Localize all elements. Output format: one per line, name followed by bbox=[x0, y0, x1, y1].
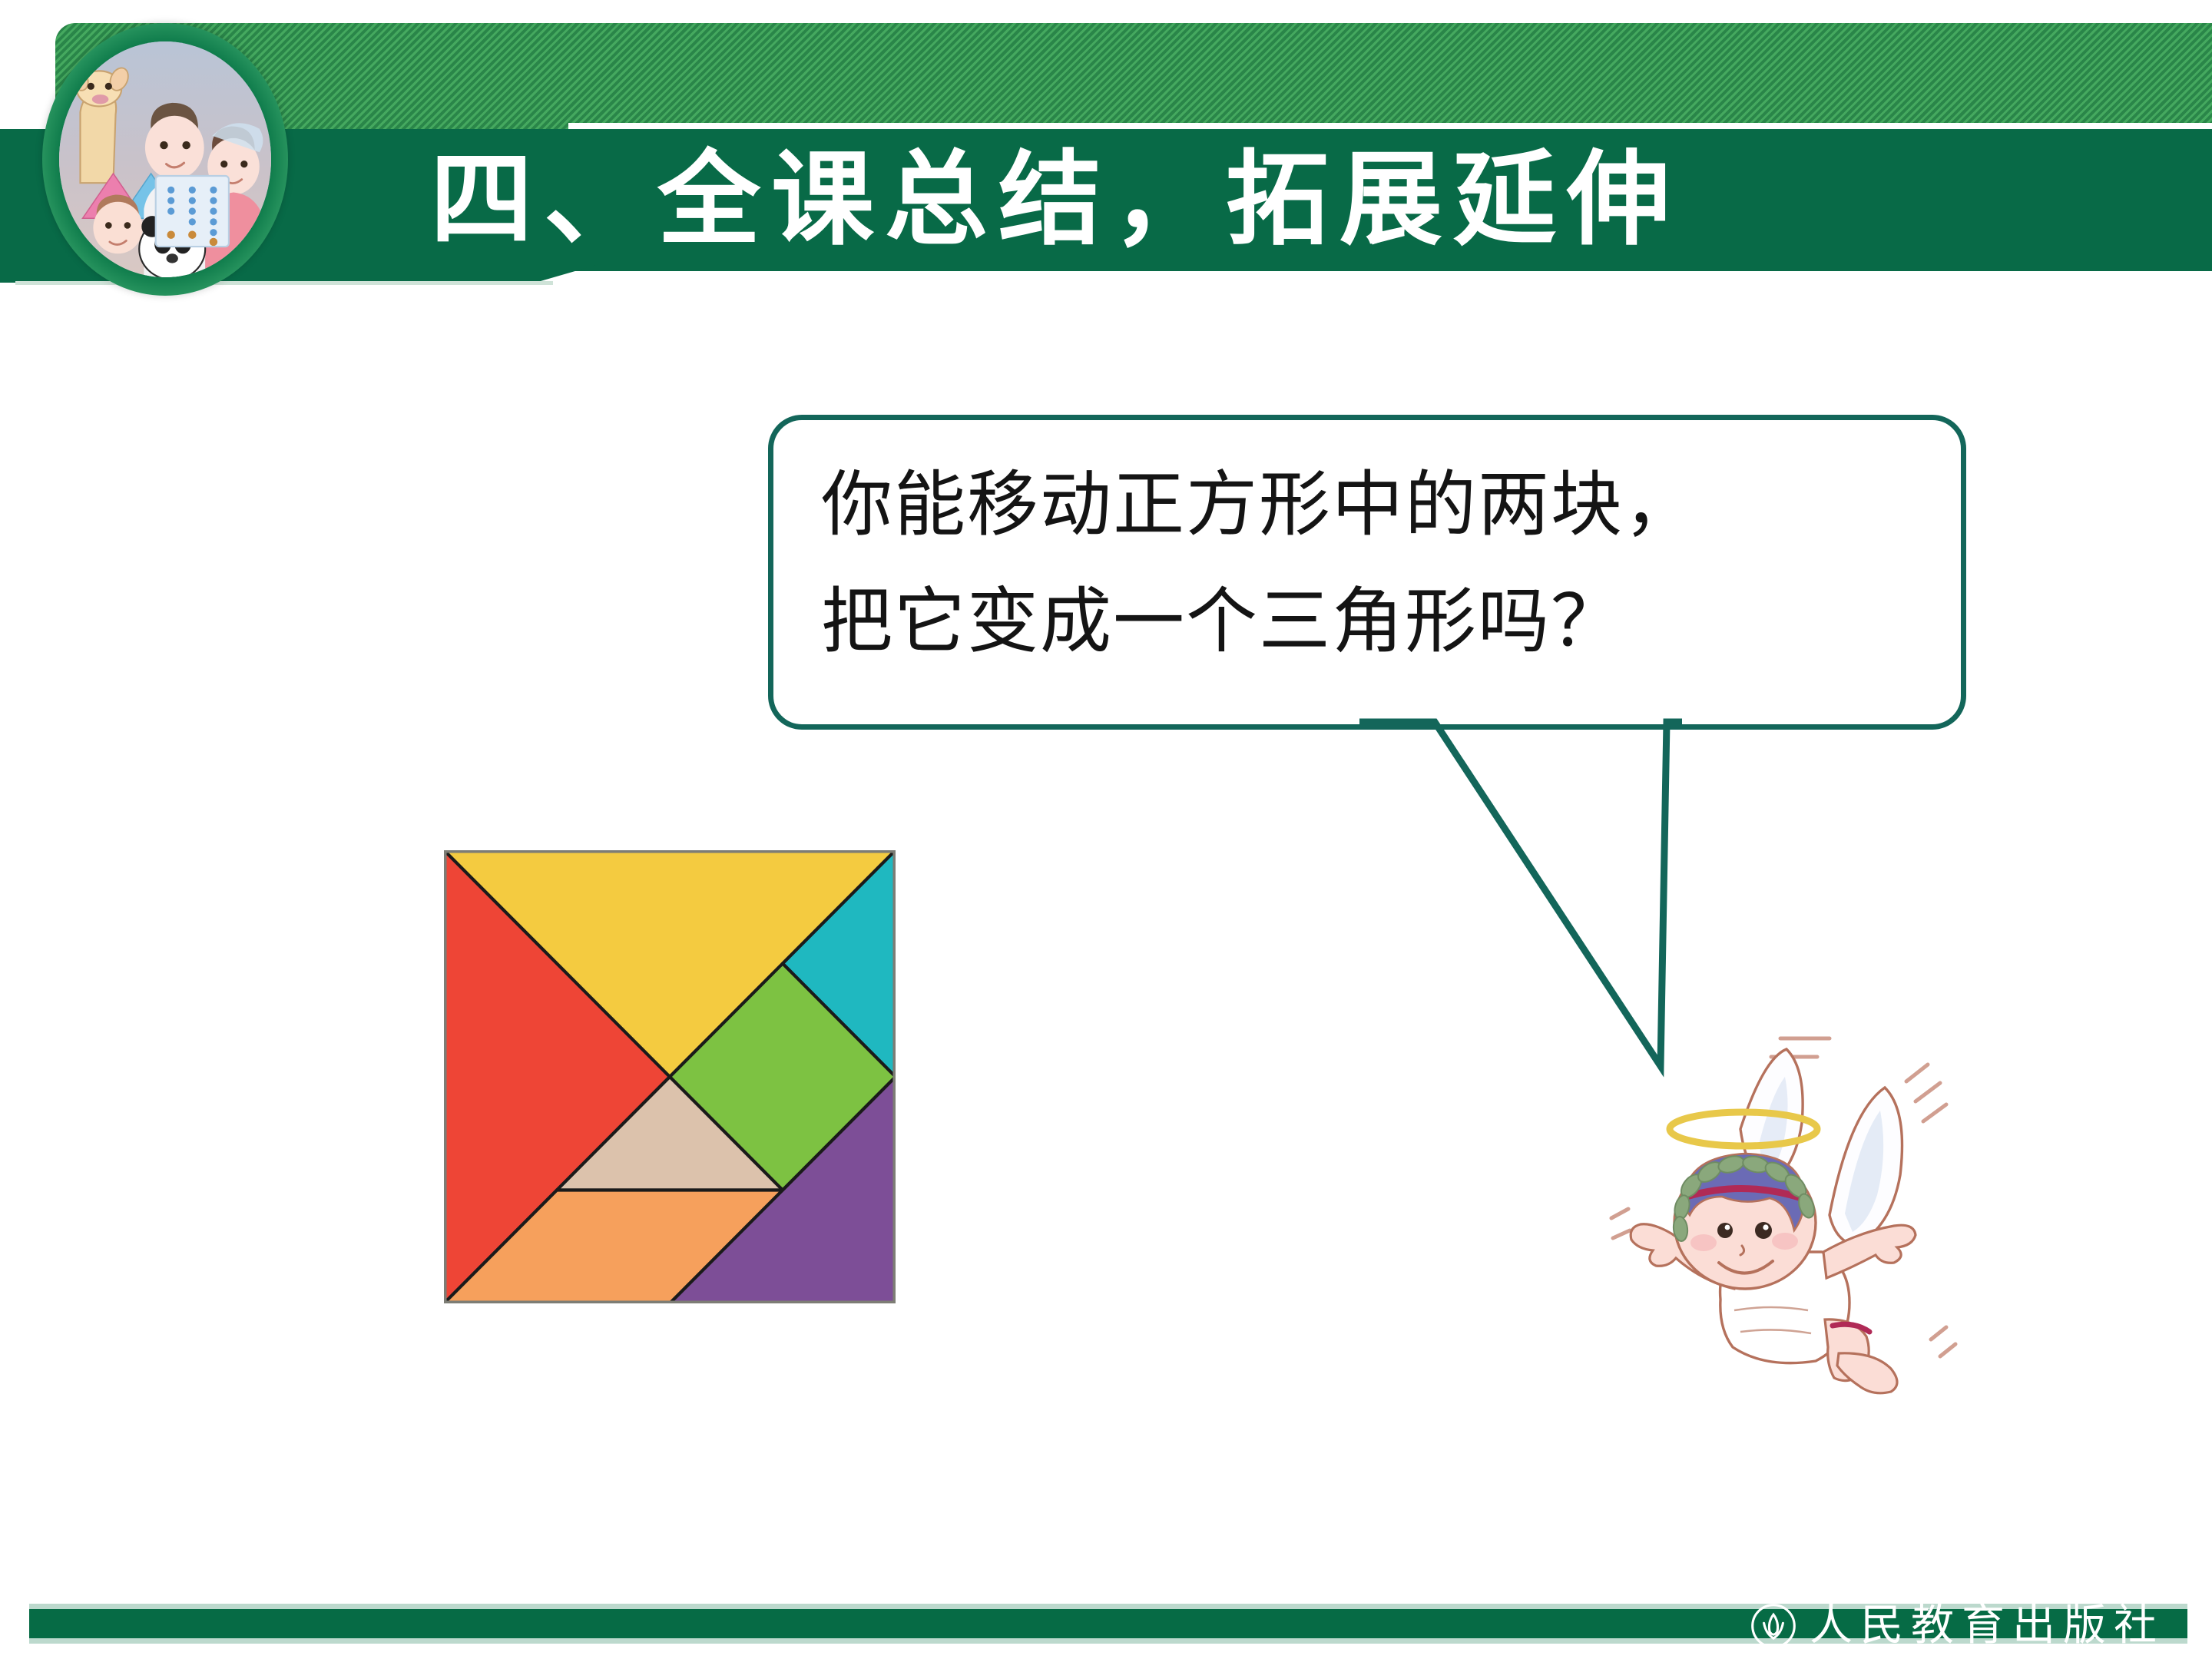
blush-left-icon bbox=[1690, 1234, 1717, 1251]
badge-illustration-icon bbox=[59, 41, 271, 277]
eye-left-icon bbox=[1717, 1223, 1733, 1238]
publisher-brand: 人民教育出版社 bbox=[1750, 1597, 2181, 1655]
speech-bubble-line-1: 你能移动正方形中的两块， bbox=[821, 448, 1922, 565]
slide-header: 四、全课总结，拓展延伸 bbox=[0, 0, 2212, 292]
speech-bubble-line-2: 把它变成一个三角形吗？ bbox=[821, 565, 1922, 681]
speech-bubble-text: 你能移动正方形中的两块， 把它变成一个三角形吗？ bbox=[821, 448, 1922, 681]
eye-right-icon bbox=[1755, 1222, 1772, 1239]
slide-canvas: 四、全课总结，拓展延伸 bbox=[0, 0, 2212, 1659]
tangram-square[interactable] bbox=[444, 850, 896, 1303]
pep-publisher-logo bbox=[1750, 1602, 1797, 1650]
cover-illustration-badge bbox=[42, 23, 288, 296]
speech-bubble: 你能移动正方形中的两块， 把它变成一个三角形吗？ bbox=[768, 415, 1966, 730]
blush-right-icon bbox=[1772, 1233, 1798, 1250]
page-title: 四、全课总结，拓展延伸 bbox=[430, 135, 1982, 266]
pep-logo-icon bbox=[1750, 1602, 1797, 1650]
badge-image bbox=[59, 41, 271, 277]
tangram-diagram-icon[interactable] bbox=[444, 850, 896, 1303]
leg-lower-icon bbox=[1837, 1353, 1897, 1393]
cherub-angel bbox=[1605, 1022, 2020, 1421]
header-stripe-band bbox=[55, 23, 2212, 131]
cherub-angel-icon bbox=[1605, 1022, 2020, 1421]
publisher-name: 人民教育出版社 bbox=[1810, 1603, 2164, 1649]
slide-footer: 人民教育出版社 bbox=[29, 1604, 2187, 1644]
